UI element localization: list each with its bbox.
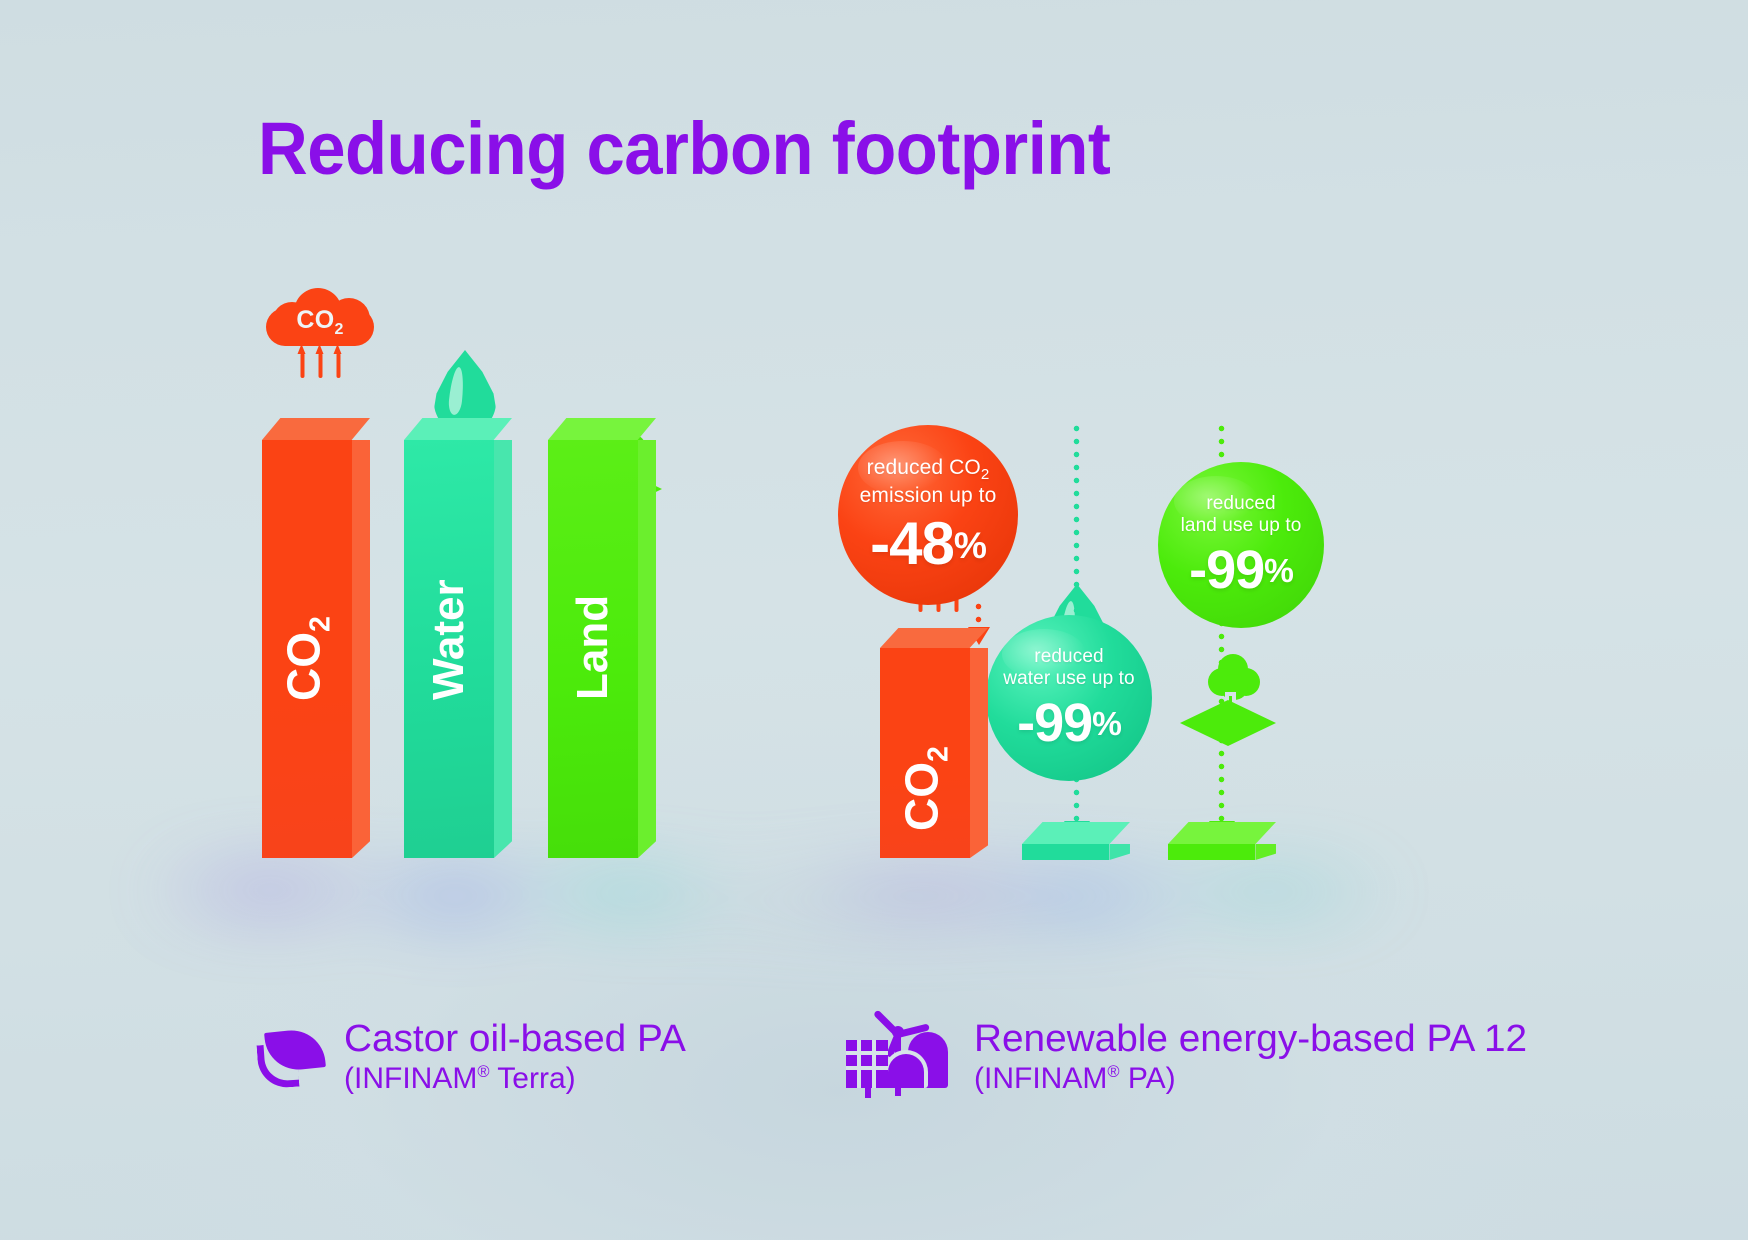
bubble-water-caption: reduced water use up to bbox=[1003, 646, 1134, 690]
emission-arrows-icon bbox=[298, 344, 343, 378]
bubble-water-reduction: reduced water use up to -99% bbox=[986, 615, 1152, 781]
bubble-co2-reduction: reduced CO2 emission up to -48% bbox=[838, 425, 1018, 605]
bubble-land-value: -99% bbox=[1189, 543, 1293, 597]
connector-co2-dotted bbox=[975, 600, 982, 628]
legend-renewable-title: Renewable energy-based PA 12 bbox=[974, 1020, 1527, 1058]
land-plot-tree-icon-right bbox=[1180, 654, 1276, 746]
page-title: Reducing carbon footprint bbox=[258, 112, 1110, 186]
leaf-icon bbox=[256, 1028, 326, 1090]
renewable-energy-icon bbox=[846, 1010, 956, 1098]
bubble-co2-value: -48% bbox=[870, 514, 986, 574]
legend-castor-oil: Castor oil-based PA (INFINAM® Terra) bbox=[256, 1020, 679, 1094]
bubble-land-caption: reduced land use up to bbox=[1181, 493, 1302, 537]
slab-right-water bbox=[1022, 822, 1130, 860]
bar-left-land: Land bbox=[548, 418, 656, 858]
legend-castor-subtitle: (INFINAM® Terra) bbox=[344, 1064, 679, 1094]
bar-right-co2-label: CO2 bbox=[894, 744, 955, 834]
co2-cloud-icon: CO2 bbox=[266, 288, 374, 346]
bar-left-co2-label: CO2 bbox=[276, 614, 337, 704]
bar-left-land-label: Land bbox=[568, 610, 618, 700]
bubble-water-value: -99% bbox=[1017, 696, 1121, 750]
bar-left-water: Water bbox=[404, 418, 512, 858]
legend-castor-title: Castor oil-based PA bbox=[344, 1020, 686, 1058]
bar-left-water-label: Water bbox=[424, 610, 474, 700]
bubble-co2-caption: reduced CO2 emission up to bbox=[860, 456, 997, 508]
legend-renewable-subtitle: (INFINAM® PA) bbox=[974, 1064, 1516, 1094]
bubble-land-reduction: reduced land use up to -99% bbox=[1158, 462, 1324, 628]
bar-left-co2: CO2 bbox=[262, 418, 370, 858]
slab-right-land bbox=[1168, 822, 1276, 860]
bar-right-co2: CO2 bbox=[880, 628, 988, 858]
co2-cloud-label: CO2 bbox=[266, 306, 374, 339]
legend-renewable-energy: Renewable energy-based PA 12 (INFINAM® P… bbox=[846, 1008, 1516, 1098]
infographic-canvas: Reducing carbon footprint CO2 CO2 bbox=[0, 0, 1748, 1240]
